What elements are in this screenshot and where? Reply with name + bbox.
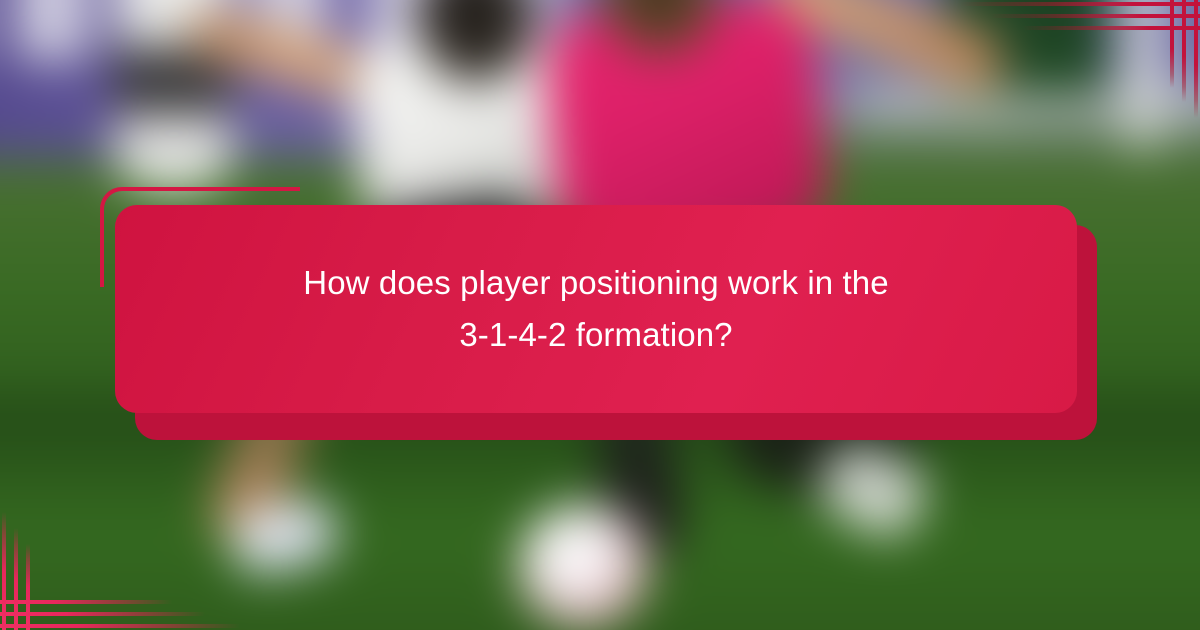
headline-text: How does player positioning work in the … xyxy=(243,257,948,361)
banner-letter xyxy=(15,0,91,61)
goal-post xyxy=(1125,0,1162,148)
screenshot-canvas: How does player positioning work in the … xyxy=(0,0,1200,630)
headline-line-2: 3-1-4-2 formation? xyxy=(303,309,888,361)
headline-card: How does player positioning work in the … xyxy=(115,205,1077,413)
headline-line-1: How does player positioning work in the xyxy=(303,257,888,309)
goal-crossbar xyxy=(859,94,1200,122)
